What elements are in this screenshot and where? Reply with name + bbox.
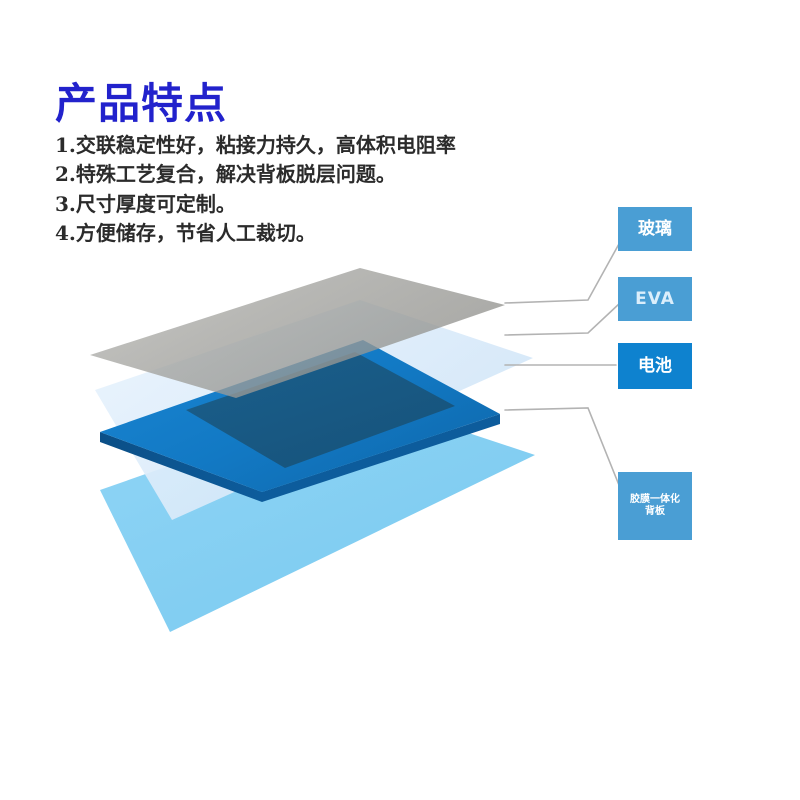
- label-text-backsheet-line1: 胶膜一体化: [630, 494, 680, 506]
- layer-backsheet: [100, 398, 535, 632]
- label-box-backsheet[interactable]: 胶膜一体化 背板: [618, 472, 692, 540]
- layer-glass: [90, 268, 505, 398]
- label-text-backsheet-line2: 背板: [630, 506, 680, 518]
- leader-line-backsheet: [505, 408, 627, 505]
- label-text-backsheet: 胶膜一体化 背板: [630, 494, 680, 518]
- label-box-eva[interactable]: EVA: [618, 277, 692, 321]
- label-text-eva: EVA: [635, 289, 675, 309]
- feature-line-3: 3.尺寸厚度可定制。: [55, 190, 575, 220]
- label-text-glass: 玻璃: [638, 219, 672, 239]
- label-box-cell[interactable]: 电池: [618, 343, 692, 389]
- page-title: 产品特点: [55, 82, 575, 127]
- label-box-glass[interactable]: 玻璃: [618, 207, 692, 251]
- label-text-cell: 电池: [638, 356, 672, 376]
- leader-line-eva: [505, 303, 620, 335]
- feature-line-4: 4.方便储存，节省人工裁切。: [55, 219, 575, 249]
- leader-lines: [505, 233, 627, 505]
- layer-eva: [95, 300, 533, 520]
- feature-line-2: 2.特殊工艺复合，解决背板脱层问题。: [55, 160, 575, 190]
- slide-canvas: 产品特点 1.交联稳定性好，粘接力持久，高体积电阻率 2.特殊工艺复合，解决背板…: [0, 0, 800, 800]
- feature-line-1: 1.交联稳定性好，粘接力持久，高体积电阻率: [55, 131, 575, 161]
- layer-cell: [100, 340, 500, 502]
- text-block: 产品特点 1.交联稳定性好，粘接力持久，高体积电阻率 2.特殊工艺复合，解决背板…: [55, 82, 575, 249]
